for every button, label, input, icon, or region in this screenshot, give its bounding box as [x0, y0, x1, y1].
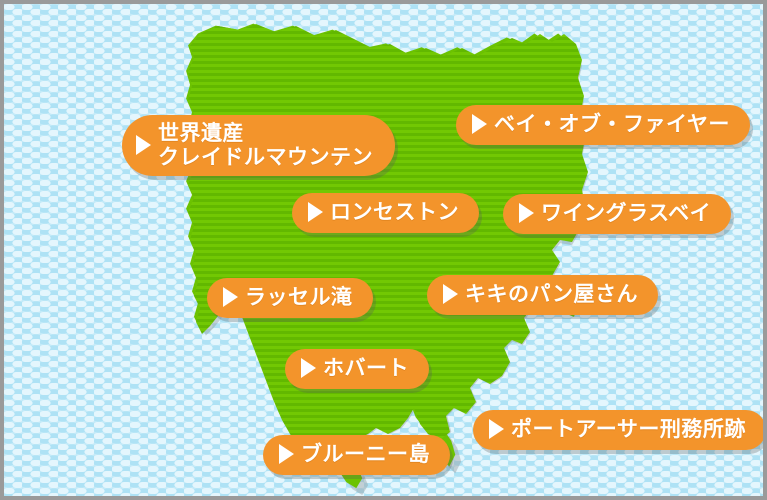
map-label-bruny-island[interactable]: ブルーニー島 — [263, 435, 450, 475]
map-label-cradle-mountain[interactable]: 世界遺産クレイドルマウンテン — [122, 115, 395, 176]
triangle-right-icon — [489, 419, 504, 439]
map-label-kiki-bakery[interactable]: キキのパン屋さん — [427, 275, 658, 315]
map-label-text: ホバート — [323, 356, 409, 381]
map-canvas: 世界遺産クレイドルマウンテンベイ・オブ・ファイヤーロンセストンワイングラスベイラ… — [0, 0, 767, 500]
map-label-text: ベイ・オブ・ファイヤー — [494, 112, 730, 137]
map-label-launceston[interactable]: ロンセストン — [292, 193, 479, 233]
map-label-text: キキのパン屋さん — [465, 282, 638, 307]
map-label-port-arthur[interactable]: ポートアーサー刑務所跡 — [473, 410, 766, 450]
map-label-text: ロンセストン — [330, 200, 459, 225]
map-label-text: ブルーニー島 — [301, 442, 430, 467]
map-label-wineglass-bay[interactable]: ワイングラスベイ — [503, 194, 731, 234]
map-label-text-line2: クレイドルマウンテン — [158, 145, 373, 169]
triangle-right-icon — [223, 287, 238, 307]
triangle-right-icon — [443, 284, 458, 304]
triangle-right-icon — [308, 202, 323, 222]
triangle-right-icon — [136, 135, 151, 155]
map-label-hobart[interactable]: ホバート — [285, 349, 429, 389]
triangle-right-icon — [279, 444, 294, 464]
map-label-text: ポートアーサー刑務所跡 — [511, 417, 746, 442]
land-base — [186, 24, 582, 455]
map-label-bay-of-fires[interactable]: ベイ・オブ・ファイヤー — [456, 105, 750, 145]
map-label-text: 世界遺産クレイドルマウンテン — [158, 121, 373, 169]
map-label-text: ラッセル滝 — [245, 285, 353, 310]
map-label-russell-falls[interactable]: ラッセル滝 — [207, 278, 373, 318]
triangle-right-icon — [301, 358, 316, 378]
triangle-right-icon — [472, 114, 487, 134]
map-label-text: ワイングラスベイ — [541, 201, 711, 226]
triangle-right-icon — [519, 203, 534, 223]
